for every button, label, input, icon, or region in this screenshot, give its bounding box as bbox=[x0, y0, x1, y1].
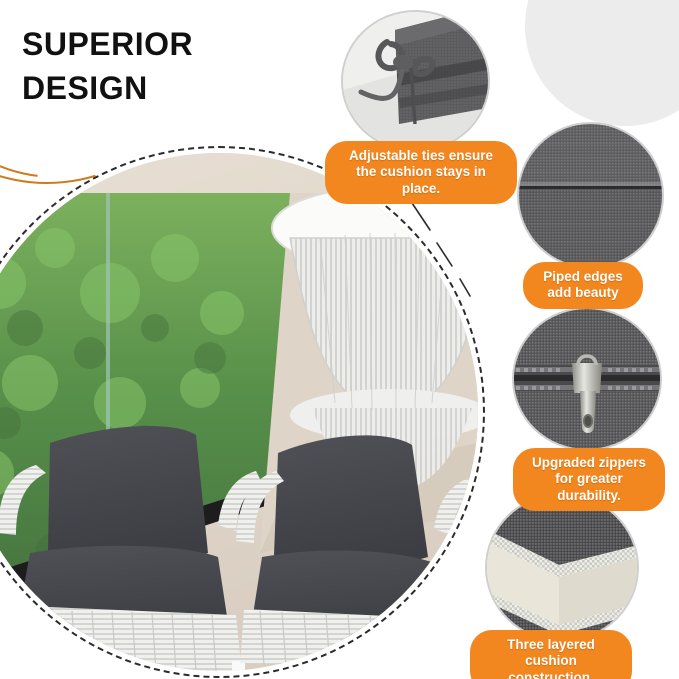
callout-ties[interactable]: Adjustable ties ensure the cushion stays… bbox=[325, 141, 517, 204]
callout-piped-edges-label: Piped edges add beauty bbox=[543, 269, 623, 300]
title-line-design: DESIGN bbox=[22, 66, 193, 110]
detail-circle-cushion-tie bbox=[343, 12, 488, 150]
teal-vase bbox=[104, 668, 146, 671]
callout-three-layers-label: Three layered cushion construction. bbox=[507, 637, 595, 679]
detail-circle-three-layers bbox=[487, 495, 637, 640]
page-title: SUPERIOR DESIGN bbox=[22, 22, 193, 110]
callout-piped-edges[interactable]: Piped edges add beauty bbox=[523, 262, 643, 309]
infographic-canvas: SUPERIOR DESIGN bbox=[0, 0, 679, 679]
callout-zippers[interactable]: Upgraded zippers for greater durability. bbox=[513, 448, 665, 511]
callout-zippers-label: Upgraded zippers for greater durability. bbox=[532, 455, 646, 503]
detail-circle-piped-edge bbox=[519, 124, 662, 267]
title-line-superior: SUPERIOR bbox=[22, 22, 193, 66]
callout-ties-label: Adjustable ties ensure the cushion stays… bbox=[349, 148, 493, 196]
callout-three-layers[interactable]: Three layered cushion construction. bbox=[470, 630, 632, 679]
main-product-photo bbox=[0, 153, 478, 671]
corner-accent-circle bbox=[525, 0, 679, 126]
detail-circle-zipper bbox=[514, 309, 660, 449]
